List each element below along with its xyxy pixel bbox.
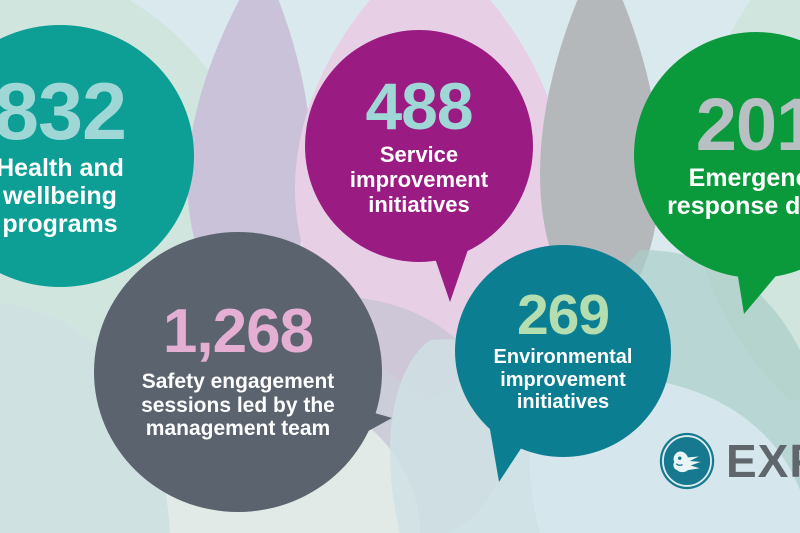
company-logo: EXP (658, 432, 800, 490)
stat-number-health: 832 (0, 74, 126, 151)
stat-bubble-safety: 1,268 Safety engagement sessions led by … (94, 232, 382, 512)
stat-bubble-environment: 269 Environmental improvement initiative… (455, 245, 671, 457)
lion-head-badge-icon (658, 432, 716, 490)
stat-number-environment: 269 (517, 288, 609, 342)
stat-number-safety: 1,268 (163, 303, 313, 362)
stat-caption-safety: Safety engagement sessions led by the ma… (112, 370, 364, 441)
stat-caption-health: Health and wellbeing programs (0, 154, 168, 238)
logo-wordmark: EXP (726, 438, 800, 484)
infographic-canvas: 832 Health and wellbeing programs 488 Se… (0, 0, 800, 533)
stat-number-emergency: 201 (696, 90, 800, 160)
stat-caption-service: Service improvement initiatives (323, 143, 515, 217)
stat-caption-environment: Environmental improvement initiatives (471, 346, 655, 413)
stat-number-service: 488 (365, 75, 472, 138)
stat-bubble-service: 488 Service improvement initiatives (305, 30, 533, 262)
stat-caption-emergency: Emergency response drills (654, 164, 800, 220)
